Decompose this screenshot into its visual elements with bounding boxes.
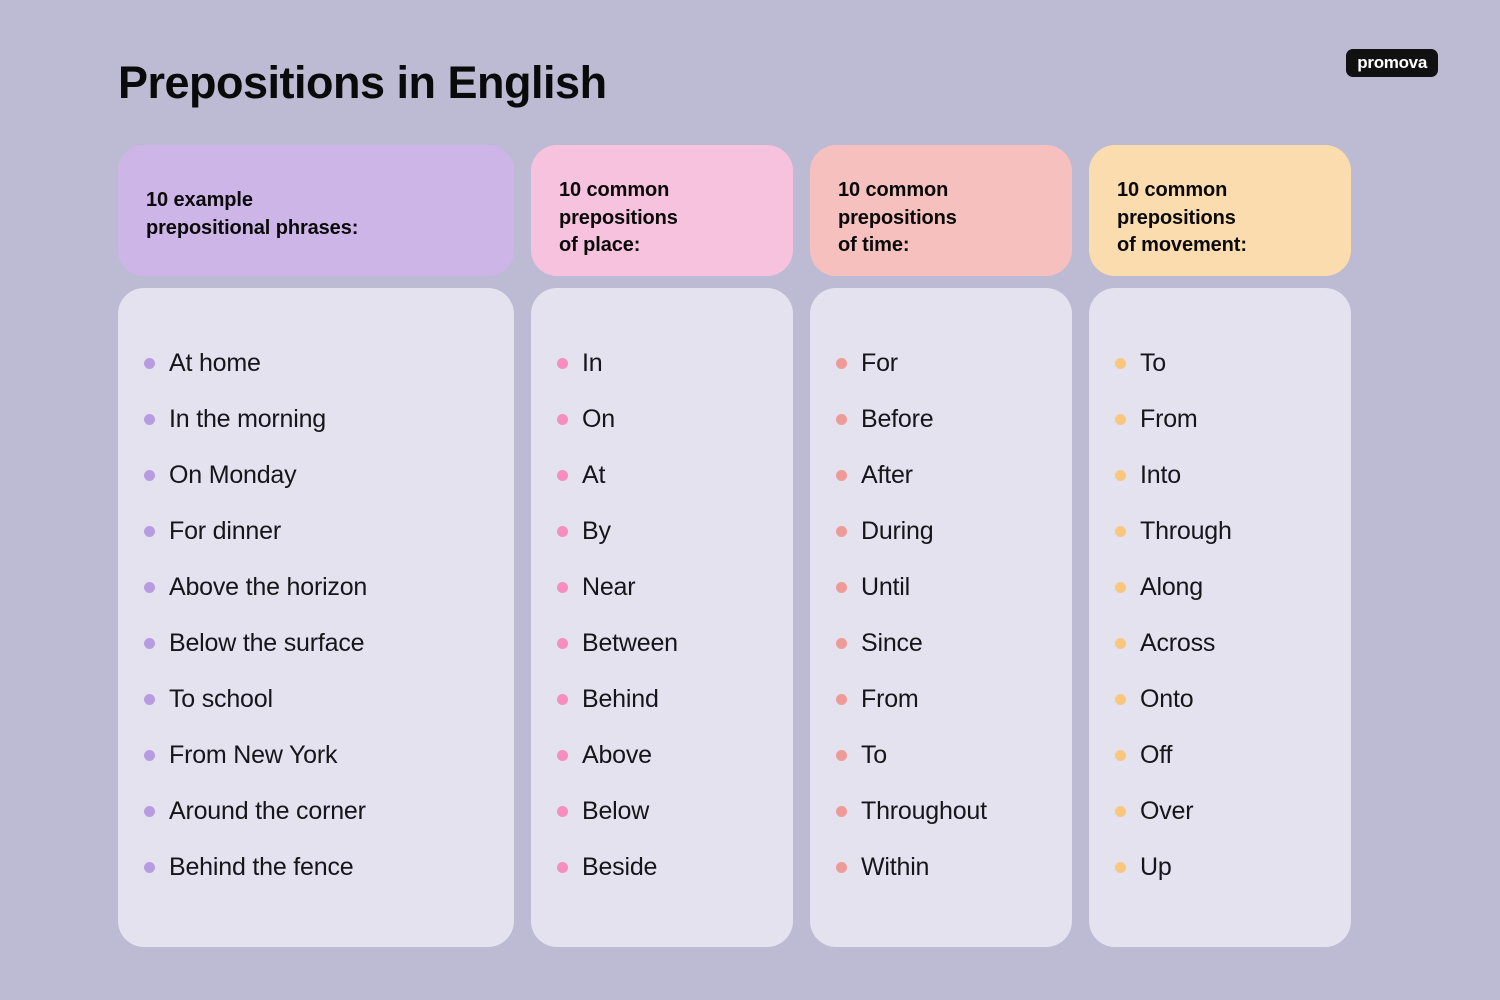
bullet-icon bbox=[557, 582, 568, 593]
list-item-label: Behind the fence bbox=[169, 855, 353, 880]
list-item-label: Since bbox=[861, 631, 923, 656]
bullet-icon bbox=[836, 358, 847, 369]
list-item-label: Through bbox=[1140, 519, 1232, 544]
list-item: Between bbox=[557, 615, 767, 671]
list-item: Below bbox=[557, 783, 767, 839]
bullet-icon bbox=[836, 862, 847, 873]
list-item-label: Below the surface bbox=[169, 631, 364, 656]
bullet-icon bbox=[1115, 582, 1126, 593]
item-list-prepositional-phrases: At homeIn the morningOn MondayFor dinner… bbox=[144, 335, 488, 895]
column-header-prepositions-of-movement: 10 common prepositions of movement: bbox=[1089, 145, 1351, 276]
list-item: By bbox=[557, 503, 767, 559]
bullet-icon bbox=[144, 750, 155, 761]
list-item-label: Off bbox=[1140, 743, 1172, 768]
bullet-icon bbox=[144, 526, 155, 537]
list-item-label: Before bbox=[861, 407, 933, 432]
list-item: At bbox=[557, 447, 767, 503]
list-item: On Monday bbox=[144, 447, 488, 503]
list-item-label: At home bbox=[169, 351, 261, 376]
column-prepositions-of-place: 10 common prepositions of place:InOnAtBy… bbox=[531, 145, 793, 947]
column-header-prepositions-of-place: 10 common prepositions of place: bbox=[531, 145, 793, 276]
column-header-label: 10 example prepositional phrases: bbox=[146, 187, 486, 242]
list-item: In bbox=[557, 335, 767, 391]
list-item: For bbox=[836, 335, 1046, 391]
column-header-label: 10 common prepositions of time: bbox=[838, 177, 1044, 260]
list-item: Off bbox=[1115, 727, 1325, 783]
list-item: Within bbox=[836, 839, 1046, 895]
bullet-icon bbox=[144, 806, 155, 817]
column-prepositions-of-time: 10 common prepositions of time:ForBefore… bbox=[810, 145, 1072, 947]
bullet-icon bbox=[557, 526, 568, 537]
bullet-icon bbox=[144, 470, 155, 481]
bullet-icon bbox=[144, 638, 155, 649]
list-item-label: For bbox=[861, 351, 898, 376]
list-item-label: Over bbox=[1140, 799, 1193, 824]
bullet-icon bbox=[836, 694, 847, 705]
list-item-label: Across bbox=[1140, 631, 1215, 656]
list-item: Into bbox=[1115, 447, 1325, 503]
list-item-label: Within bbox=[861, 855, 929, 880]
bullet-icon bbox=[836, 470, 847, 481]
list-item: Throughout bbox=[836, 783, 1046, 839]
list-item-label: Throughout bbox=[861, 799, 987, 824]
list-item-label: Behind bbox=[582, 687, 659, 712]
list-item-label: From bbox=[1140, 407, 1198, 432]
column-body-prepositional-phrases: At homeIn the morningOn MondayFor dinner… bbox=[118, 288, 514, 947]
bullet-icon bbox=[1115, 806, 1126, 817]
list-item-label: In the morning bbox=[169, 407, 326, 432]
bullet-icon bbox=[836, 414, 847, 425]
list-item: Near bbox=[557, 559, 767, 615]
list-item: To school bbox=[144, 671, 488, 727]
list-item: From bbox=[836, 671, 1046, 727]
column-header-prepositions-of-time: 10 common prepositions of time: bbox=[810, 145, 1072, 276]
list-item-label: For dinner bbox=[169, 519, 281, 544]
list-item: On bbox=[557, 391, 767, 447]
list-item: In the morning bbox=[144, 391, 488, 447]
column-header-prepositional-phrases: 10 example prepositional phrases: bbox=[118, 145, 514, 276]
list-item-label: Until bbox=[861, 575, 910, 600]
bullet-icon bbox=[1115, 414, 1126, 425]
column-header-label: 10 common prepositions of movement: bbox=[1117, 177, 1323, 260]
bullet-icon bbox=[144, 694, 155, 705]
list-item-label: In bbox=[582, 351, 602, 376]
bullet-icon bbox=[1115, 862, 1126, 873]
list-item: At home bbox=[144, 335, 488, 391]
list-item-label: Between bbox=[582, 631, 678, 656]
item-list-prepositions-of-time: ForBeforeAfterDuringUntilSinceFromToThro… bbox=[836, 335, 1046, 895]
list-item-label: From New York bbox=[169, 743, 337, 768]
list-item-label: From bbox=[861, 687, 919, 712]
list-item-label: Above bbox=[582, 743, 652, 768]
item-list-prepositions-of-place: InOnAtByNearBetweenBehindAboveBelowBesid… bbox=[557, 335, 767, 895]
bullet-icon bbox=[1115, 358, 1126, 369]
page-header: Prepositions in English promova bbox=[0, 0, 1500, 145]
list-item-label: After bbox=[861, 463, 913, 488]
list-item: Up bbox=[1115, 839, 1325, 895]
bullet-icon bbox=[557, 694, 568, 705]
column-header-label: 10 common prepositions of place: bbox=[559, 177, 765, 260]
list-item-label: To bbox=[1140, 351, 1166, 376]
list-item: To bbox=[836, 727, 1046, 783]
list-item: Behind the fence bbox=[144, 839, 488, 895]
bullet-icon bbox=[1115, 526, 1126, 537]
bullet-icon bbox=[557, 862, 568, 873]
list-item: From New York bbox=[144, 727, 488, 783]
column-body-prepositions-of-place: InOnAtByNearBetweenBehindAboveBelowBesid… bbox=[531, 288, 793, 947]
list-item: Since bbox=[836, 615, 1046, 671]
list-item: Behind bbox=[557, 671, 767, 727]
bullet-icon bbox=[144, 582, 155, 593]
column-body-prepositions-of-movement: ToFromIntoThroughAlongAcrossOntoOffOverU… bbox=[1089, 288, 1351, 947]
list-item-label: By bbox=[582, 519, 611, 544]
column-prepositional-phrases: 10 example prepositional phrases:At home… bbox=[118, 145, 514, 947]
list-item: Before bbox=[836, 391, 1046, 447]
list-item-label: Along bbox=[1140, 575, 1203, 600]
list-item: Over bbox=[1115, 783, 1325, 839]
bullet-icon bbox=[836, 806, 847, 817]
bullet-icon bbox=[144, 358, 155, 369]
list-item-label: During bbox=[861, 519, 933, 544]
list-item: Below the surface bbox=[144, 615, 488, 671]
bullet-icon bbox=[836, 526, 847, 537]
bullet-icon bbox=[836, 582, 847, 593]
list-item: Onto bbox=[1115, 671, 1325, 727]
bullet-icon bbox=[836, 750, 847, 761]
list-item-label: On bbox=[582, 407, 615, 432]
columns-container: 10 example prepositional phrases:At home… bbox=[118, 145, 1390, 947]
promova-logo: promova bbox=[1346, 49, 1438, 77]
list-item: To bbox=[1115, 335, 1325, 391]
list-item-label: Near bbox=[582, 575, 635, 600]
list-item-label: Beside bbox=[582, 855, 657, 880]
list-item: From bbox=[1115, 391, 1325, 447]
list-item: During bbox=[836, 503, 1046, 559]
list-item: Above bbox=[557, 727, 767, 783]
item-list-prepositions-of-movement: ToFromIntoThroughAlongAcrossOntoOffOverU… bbox=[1115, 335, 1325, 895]
list-item-label: Below bbox=[582, 799, 649, 824]
list-item: Above the horizon bbox=[144, 559, 488, 615]
list-item-label: Onto bbox=[1140, 687, 1193, 712]
list-item-label: To school bbox=[169, 687, 273, 712]
list-item-label: At bbox=[582, 463, 605, 488]
bullet-icon bbox=[1115, 750, 1126, 761]
bullet-icon bbox=[1115, 470, 1126, 481]
column-prepositions-of-movement: 10 common prepositions of movement:ToFro… bbox=[1089, 145, 1351, 947]
bullet-icon bbox=[557, 750, 568, 761]
list-item: Around the corner bbox=[144, 783, 488, 839]
bullet-icon bbox=[557, 638, 568, 649]
bullet-icon bbox=[557, 470, 568, 481]
list-item: Along bbox=[1115, 559, 1325, 615]
bullet-icon bbox=[1115, 694, 1126, 705]
bullet-icon bbox=[557, 358, 568, 369]
list-item-label: On Monday bbox=[169, 463, 296, 488]
bullet-icon bbox=[557, 806, 568, 817]
list-item-label: Around the corner bbox=[169, 799, 366, 824]
list-item: Through bbox=[1115, 503, 1325, 559]
list-item-label: Into bbox=[1140, 463, 1181, 488]
list-item-label: Above the horizon bbox=[169, 575, 367, 600]
bullet-icon bbox=[144, 414, 155, 425]
list-item: After bbox=[836, 447, 1046, 503]
bullet-icon bbox=[557, 414, 568, 425]
list-item: Beside bbox=[557, 839, 767, 895]
page-title: Prepositions in English bbox=[118, 57, 607, 109]
bullet-icon bbox=[144, 862, 155, 873]
list-item: Across bbox=[1115, 615, 1325, 671]
column-body-prepositions-of-time: ForBeforeAfterDuringUntilSinceFromToThro… bbox=[810, 288, 1072, 947]
bullet-icon bbox=[1115, 638, 1126, 649]
list-item-label: To bbox=[861, 743, 887, 768]
list-item: For dinner bbox=[144, 503, 488, 559]
list-item-label: Up bbox=[1140, 855, 1172, 880]
bullet-icon bbox=[836, 638, 847, 649]
list-item: Until bbox=[836, 559, 1046, 615]
